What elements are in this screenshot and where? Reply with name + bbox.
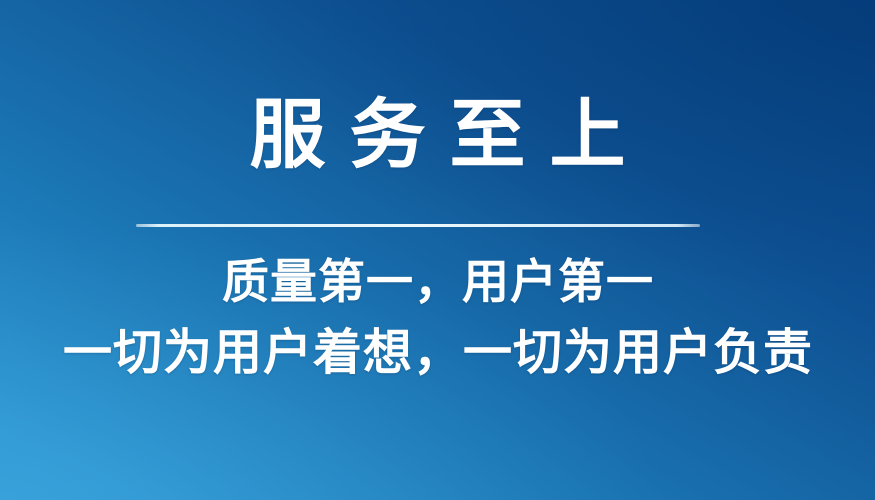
page-title: 服务至上: [0, 98, 875, 174]
slogan-line-1: 质量第一，用户第一: [0, 258, 875, 305]
service-slogan-banner: 服务至上 质量第一，用户第一 一切为用户着想，一切为用户负责: [0, 0, 875, 500]
divider: [136, 224, 700, 227]
banner-content: 服务至上 质量第一，用户第一 一切为用户着想，一切为用户负责: [0, 0, 875, 500]
slogan-line-2: 一切为用户着想，一切为用户负责: [0, 329, 875, 378]
